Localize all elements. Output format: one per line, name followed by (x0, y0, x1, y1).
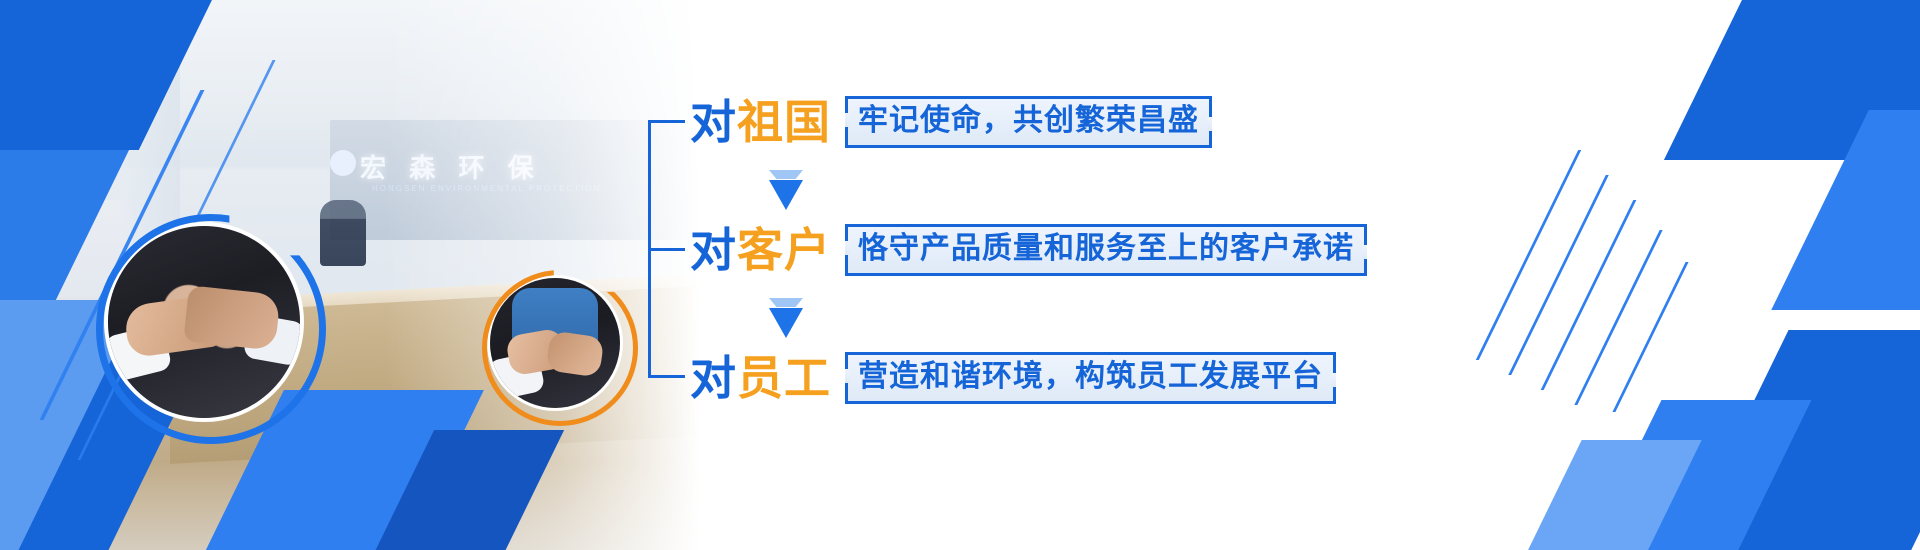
applause-circle-ring (482, 270, 638, 426)
lead-object-country: 祖国 (737, 96, 831, 148)
statement-lead-customer: 对客户 (690, 227, 831, 273)
deco-right-line-3 (1541, 200, 1637, 390)
bracket-tick-1 (651, 120, 685, 123)
bracket-tick-2 (651, 248, 685, 251)
statement-tag-customer: 恪守产品质量和服务至上的客户承诺 (845, 224, 1367, 276)
deco-shape-right-dark-top (1664, 0, 1920, 160)
culture-statement-list: 对祖国 牢记使命，共创繁荣昌盛 对客户 恪守产品质量和服务至上的客户承诺 对员工… (648, 78, 1388, 398)
deco-shape-right-mid (1771, 110, 1920, 310)
statement-lead-employee: 对员工 (690, 355, 831, 401)
deco-right-line-4 (1574, 230, 1662, 405)
deco-shape-right-dark-bottom (1671, 330, 1920, 550)
arrow-cap-2 (769, 298, 803, 307)
lead-prefix-employee: 对 (690, 352, 737, 404)
company-logo-mark (330, 150, 356, 176)
lead-prefix-customer: 对 (690, 224, 737, 276)
arrow-cap-1 (769, 170, 803, 179)
photo-receptionist (320, 200, 366, 266)
statement-tag-employee: 营造和谐环境，构筑员工发展平台 (845, 352, 1336, 404)
statement-tag-country: 牢记使命，共创繁荣昌盛 (845, 96, 1212, 148)
bracket-tick-3 (651, 375, 685, 378)
lead-object-customer: 客户 (737, 224, 831, 276)
company-sign-text: 宏 森 环 保 (360, 148, 542, 185)
deco-shape-right-mid-bottom (1579, 400, 1812, 550)
statement-row-customer: 对客户 恪守产品质量和服务至上的客户承诺 (690, 224, 1367, 276)
company-sign-subtext: HONGSEN ENVIRONMENTAL PROTECTION (372, 184, 601, 193)
arrow-triangle-1 (769, 180, 803, 210)
deco-right-line-2 (1508, 175, 1609, 375)
arrow-triangle-2 (769, 308, 803, 338)
lead-object-employee: 员工 (737, 352, 831, 404)
statement-lead-country: 对祖国 (690, 99, 831, 145)
statement-row-country: 对祖国 牢记使命，共创繁荣昌盛 (690, 96, 1212, 148)
lead-prefix-country: 对 (690, 96, 737, 148)
bracket-connector (648, 120, 685, 378)
deco-shape-right-light-bottom (1518, 440, 1701, 550)
office-reception-photo: 宏 森 环 保 HONGSEN ENVIRONMENTAL PROTECTION (0, 0, 700, 550)
deco-right-line-5 (1612, 262, 1688, 412)
culture-banner: 宏 森 环 保 HONGSEN ENVIRONMENTAL PROTECTION (0, 0, 1920, 550)
deco-shape-right-light-top (1711, 0, 1920, 140)
statement-row-employee: 对员工 营造和谐环境，构筑员工发展平台 (690, 352, 1336, 404)
